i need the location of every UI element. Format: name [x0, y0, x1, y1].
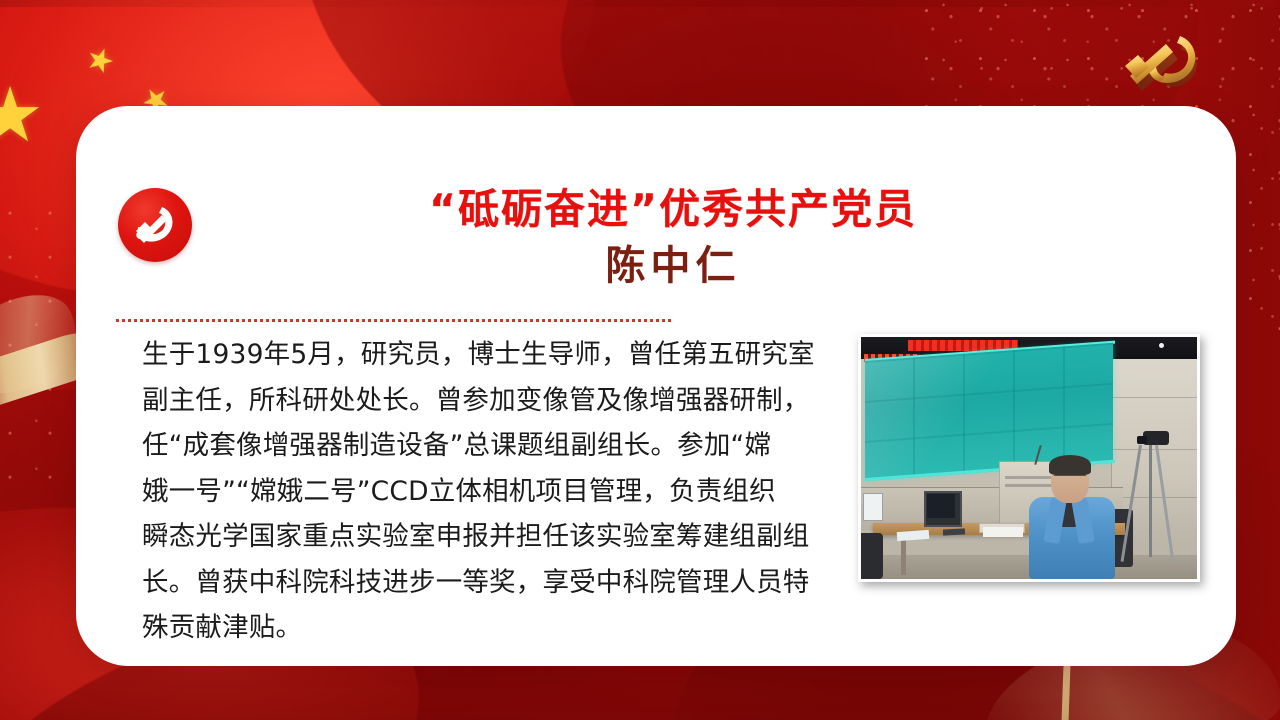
dotted-divider [116, 319, 672, 322]
body-line: 任“成套像增强器制造设备”总课题组副组长。参加“嫦 [142, 423, 845, 469]
photo-ceiling-light [1159, 343, 1164, 348]
biography-text: 生于1939年5月，研究员，博士生导师，曾任第五研究室 副主任，所科研处处长。曾… [142, 332, 845, 651]
body-line: 副主任，所科研处处长。曾参加变像管及像增强器研制， [142, 378, 845, 424]
slide-canvas: ★ ★ ★ ★ ★ [0, 0, 1280, 720]
photo-keyboard [943, 528, 965, 535]
body-line: 殊贡献津贴。 [142, 605, 845, 651]
photo-desk-leg [901, 535, 906, 575]
body-line: 生于1939年5月，研究员，博士生导师，曾任第五研究室 [142, 332, 845, 378]
person-photo [858, 334, 1200, 582]
title-block: “砥砺奋进”优秀共产党员 陈中仁 [98, 184, 1208, 288]
body-line: 瞬态光学国家重点实验室申报并担任该实验室筹建组副组 [142, 514, 845, 560]
page-title: “砥砺奋进”优秀共产党员 [138, 184, 1208, 234]
flag-star-large-icon: ★ [0, 78, 44, 154]
photo-chair-left [858, 533, 883, 579]
photo-panel-line [1113, 397, 1197, 398]
photo-paper [983, 527, 1023, 537]
photo-tripod-leg [1149, 445, 1152, 557]
photo-camera-lens [1137, 436, 1147, 444]
body-line: 娥一号”“嫦娥二号”CCD立体相机项目管理，负责组织 [142, 469, 845, 515]
flag-star-small-1-icon: ★ [81, 40, 119, 80]
photo-monitor-screen [927, 494, 955, 518]
body-line: 长。曾获中科院科技进步一等奖，享受中科院管理人员特 [142, 560, 845, 606]
gold-hammer-sickle-icon [1110, 24, 1214, 102]
content-card: “砥砺奋进”优秀共产党员 陈中仁 生于1939年5月，研究员，博士生导师，曾任第… [76, 106, 1236, 666]
photo-person-glasses [1054, 475, 1086, 483]
photo-scene [861, 337, 1197, 579]
person-name: 陈中仁 [138, 244, 1208, 288]
hammer-sickle-badge-icon [118, 188, 192, 262]
photo-podium-text [1005, 471, 1057, 487]
photo-left-monitor [863, 493, 883, 521]
photo-panel-line [1113, 497, 1197, 498]
photo-person-hair [1049, 455, 1091, 475]
